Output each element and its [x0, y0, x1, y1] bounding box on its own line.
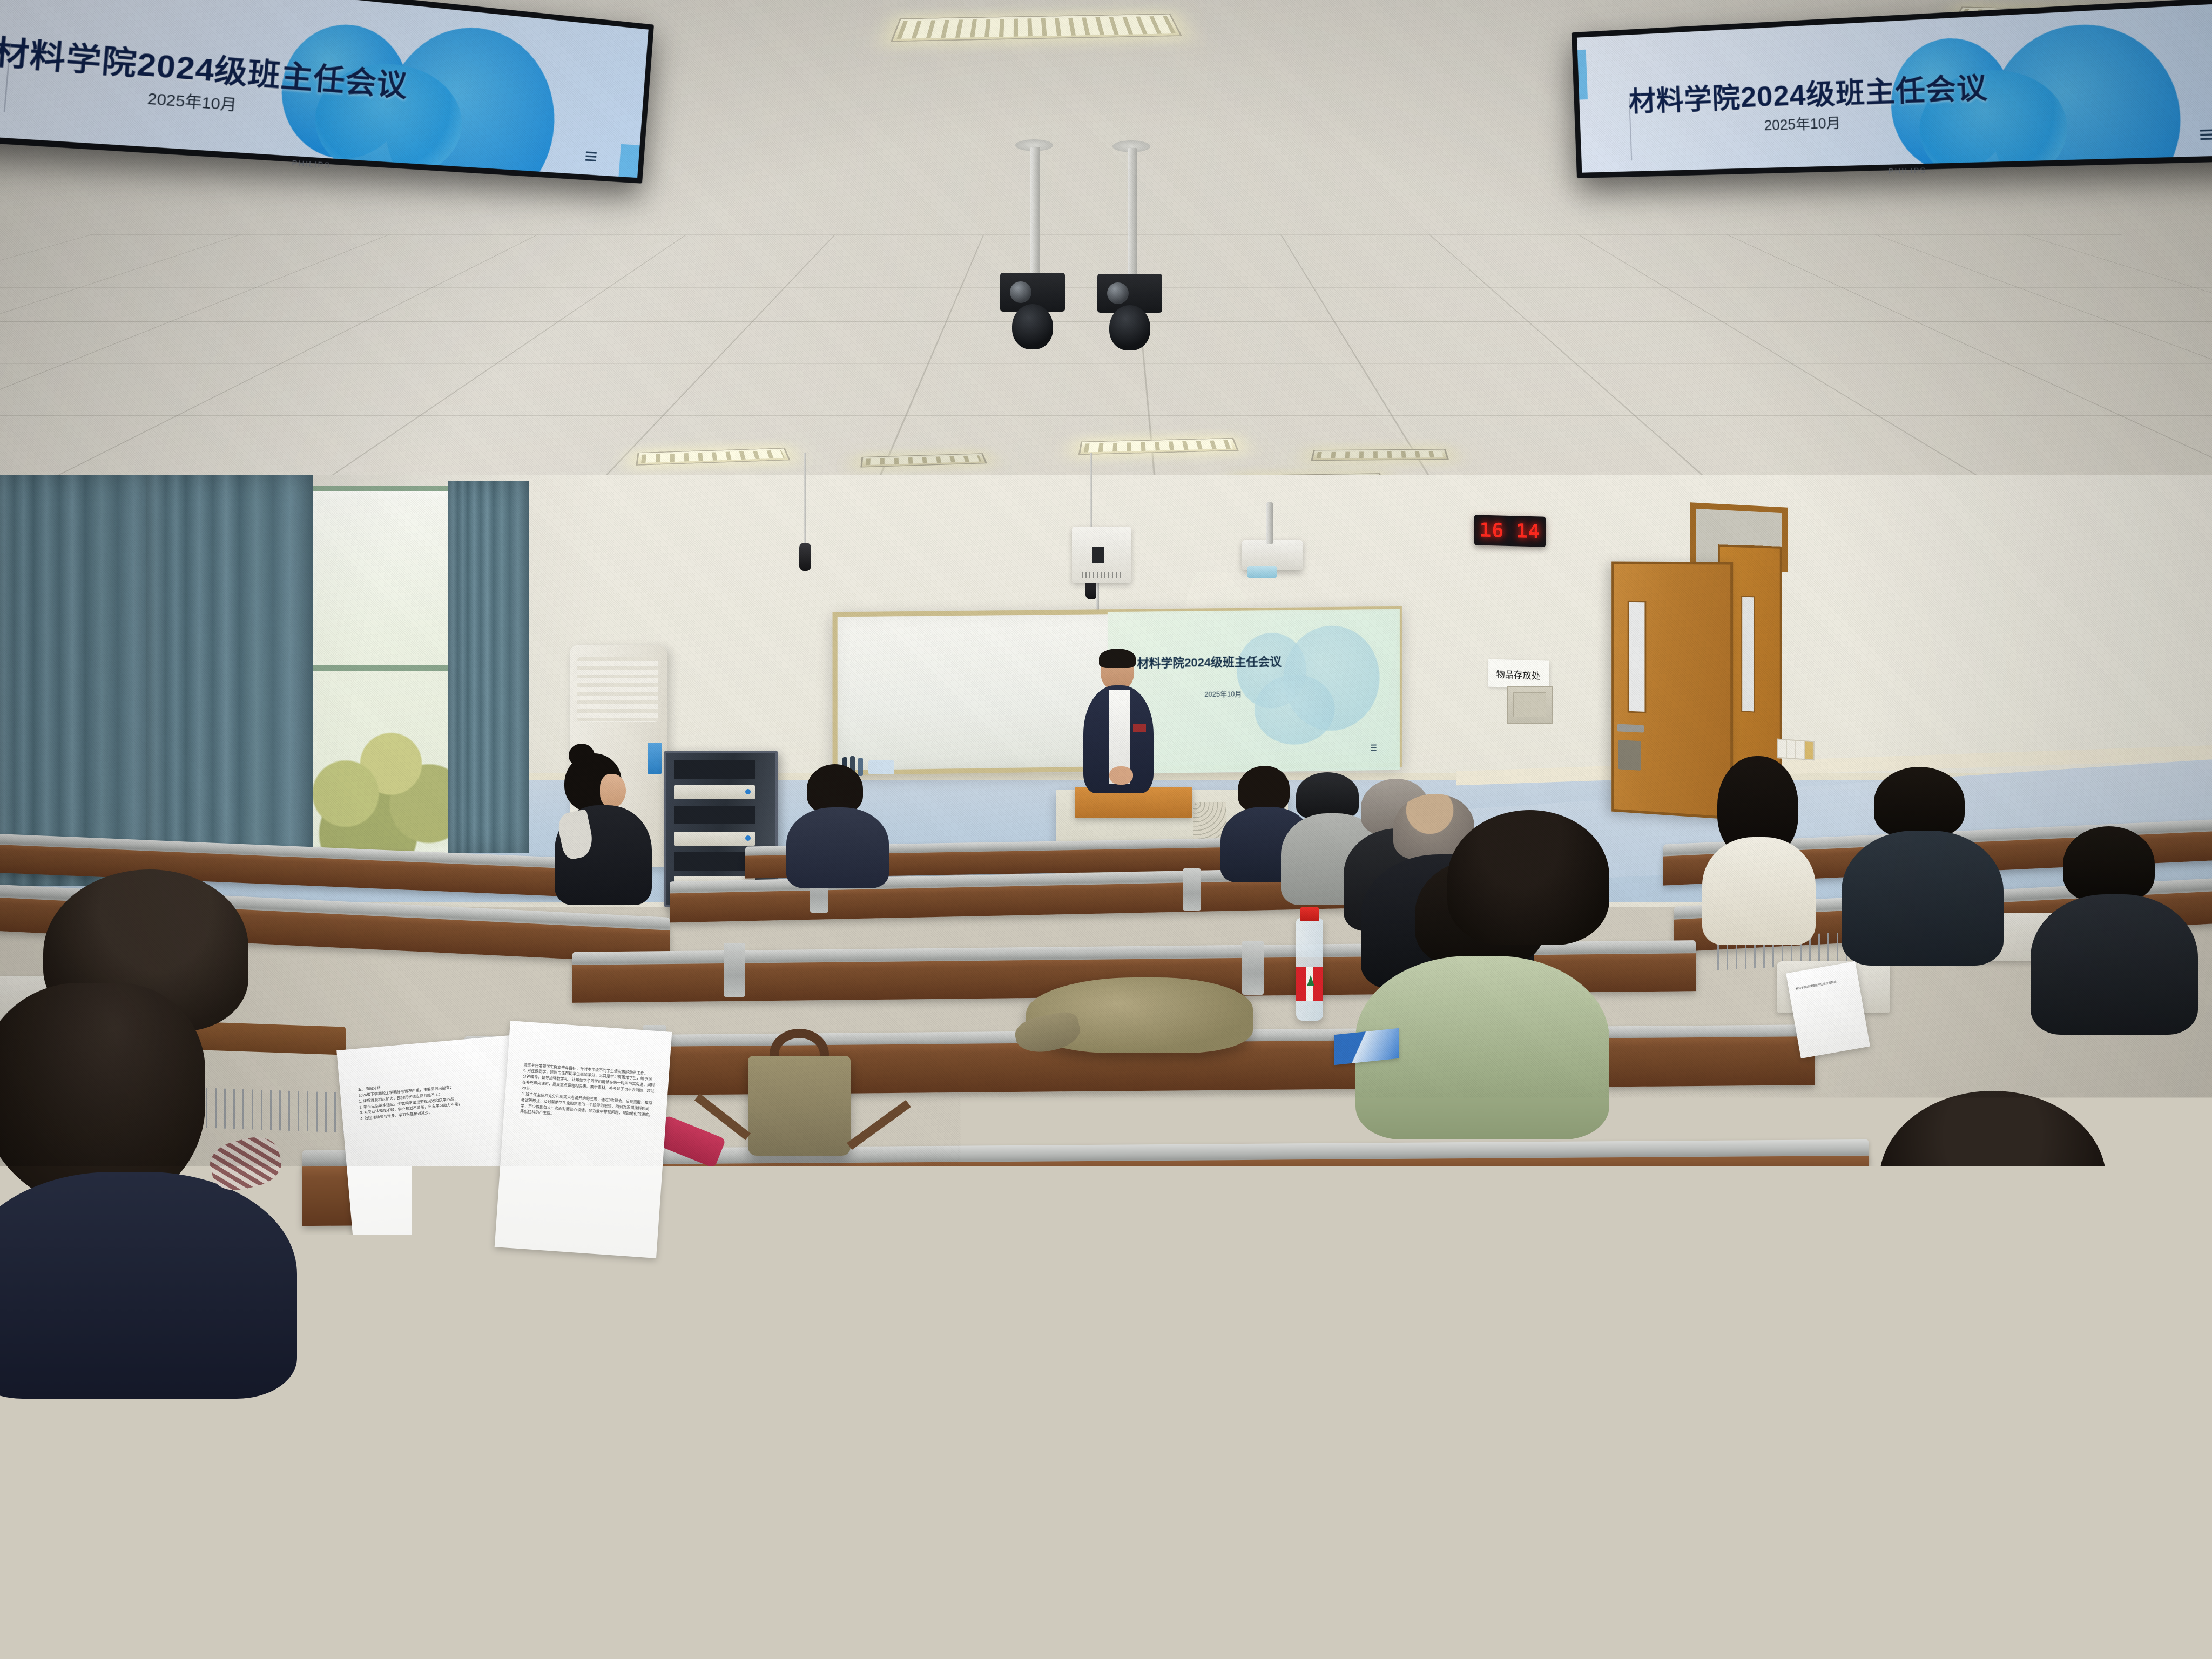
projector-lens-icon	[1247, 566, 1277, 578]
short-throw-projector	[1242, 540, 1303, 570]
control-box-vent-icon	[1082, 572, 1122, 578]
marker-icon	[858, 758, 863, 776]
attendee-hair	[1447, 810, 1609, 945]
handbag	[748, 1056, 851, 1156]
classroom-photo: 材料学院2024级班主任会议 2025年10月 PHILIPS 材料学院2024…	[0, 0, 2212, 1659]
ptz-camera-left-icon	[1000, 273, 1065, 312]
window-curtain-left	[0, 475, 157, 886]
microphone-capsule-icon	[799, 543, 811, 571]
ac-energy-label	[648, 743, 662, 774]
wall-access-panel	[1507, 686, 1553, 724]
menu-icon	[585, 152, 597, 162]
menu-icon	[2200, 129, 2212, 140]
rack-device[interactable]	[674, 785, 755, 799]
storage-area-sign: 物品存放处	[1488, 659, 1549, 689]
rack-blank-panel	[674, 852, 755, 871]
attendee-hair	[1874, 767, 1965, 837]
clock-minutes: 14	[1516, 520, 1540, 543]
door-vision-panel	[1741, 596, 1755, 712]
bottle-label	[1296, 967, 1323, 1001]
ptz-camera-right-icon	[1097, 274, 1162, 313]
projected-slide-subtitle: 2025年10月	[1204, 688, 1242, 699]
desk-bracket	[1242, 941, 1264, 995]
camera-dome-icon	[1012, 304, 1053, 349]
camera-pole	[1030, 147, 1040, 276]
projected-slide-title: 材料学院2024级班主任会议	[1137, 652, 1282, 671]
attendee-torso	[786, 807, 889, 888]
projector-mount-pole	[1266, 502, 1273, 544]
presenter-hands	[1109, 766, 1133, 785]
cup	[1793, 1388, 1852, 1453]
camera-lens-icon	[1107, 282, 1129, 304]
desk-bracket	[724, 943, 745, 997]
attendee-cap	[1296, 772, 1359, 819]
handbag-strap	[847, 1100, 911, 1150]
attendee-hair	[2063, 826, 2155, 902]
window-foliage	[308, 655, 459, 854]
document-text: 请班主任带领学生树立奋斗目标，针对本年级不同学生情况做好动员工作。 2. 对任课…	[520, 1063, 656, 1125]
window-curtain-center	[146, 475, 313, 878]
attendee-torso	[2031, 894, 2198, 1035]
attendee-hair	[807, 764, 863, 814]
attendee-torso	[0, 1172, 297, 1399]
display-brand-label: PHILIPS	[1889, 166, 1927, 176]
window-mullion	[308, 665, 459, 671]
eyeglasses	[1307, 1507, 1447, 1572]
document-text: 五、原因分析 2024级下学期较上学期补考情况严重，主要原因可能有： 1. 课程…	[358, 1075, 506, 1122]
attendee-face	[600, 774, 626, 807]
hanging-microphone-1	[804, 453, 806, 547]
desk-bracket	[346, 1293, 377, 1401]
door-vision-panel	[1628, 601, 1647, 713]
document-page: 请班主任带领学生树立奋斗目标，针对本年级不同学生情况做好动员工作。 2. 对任课…	[495, 1021, 672, 1258]
attendee-torso	[1842, 831, 2004, 966]
ceiling-light-fixture	[1311, 449, 1449, 461]
clock-hours: 16	[1480, 519, 1504, 542]
right-display-screen: 材料学院2024级班主任会议 2025年10月	[1577, 1, 2212, 172]
control-box-indicator-icon	[1092, 547, 1104, 563]
projected-slide-blob	[1255, 674, 1335, 745]
document-page: 材料学院2024级班主任会议签到表	[1786, 961, 1870, 1058]
eraser-icon	[868, 760, 894, 774]
window	[302, 486, 464, 859]
slide-subtitle: 2025年10月	[1764, 112, 1841, 134]
desk-bracket	[918, 1290, 949, 1398]
attendee-torso	[1702, 837, 1816, 945]
door-lock-icon[interactable]	[1618, 740, 1641, 771]
slide-corner-tab-br	[618, 144, 639, 178]
camera-lens-icon	[1010, 281, 1031, 303]
eyeglass-lens-right	[1388, 1514, 1445, 1556]
ac-grille-icon	[577, 657, 658, 722]
camera-pole	[1128, 148, 1137, 278]
attendee-hair-bun	[569, 744, 595, 767]
desk-bracket	[1183, 868, 1201, 911]
desk-bracket	[1491, 1284, 1522, 1392]
door-handle-icon[interactable]	[1617, 724, 1644, 732]
attendee-hair	[1238, 766, 1290, 812]
camera-dome-icon	[1109, 305, 1150, 350]
window-curtain-right	[448, 481, 529, 853]
menu-icon	[1371, 744, 1377, 751]
classroom-door[interactable]	[1611, 562, 1733, 820]
rack-blank-panel	[674, 760, 755, 779]
rack-blank-panel	[674, 806, 755, 824]
slide-corner-tab	[1577, 49, 1588, 99]
document-text: 材料学院2024级班主任会议签到表	[1796, 977, 1853, 992]
rack-device[interactable]	[674, 832, 755, 846]
wall-control-box[interactable]	[1072, 527, 1131, 583]
bottle-cap-icon	[1300, 907, 1319, 921]
presenter-hair	[1099, 649, 1136, 668]
wall-digital-clock: 16 14	[1474, 515, 1546, 547]
presenter-badge	[1133, 724, 1146, 732]
light-switch-panel[interactable]	[1777, 739, 1815, 761]
